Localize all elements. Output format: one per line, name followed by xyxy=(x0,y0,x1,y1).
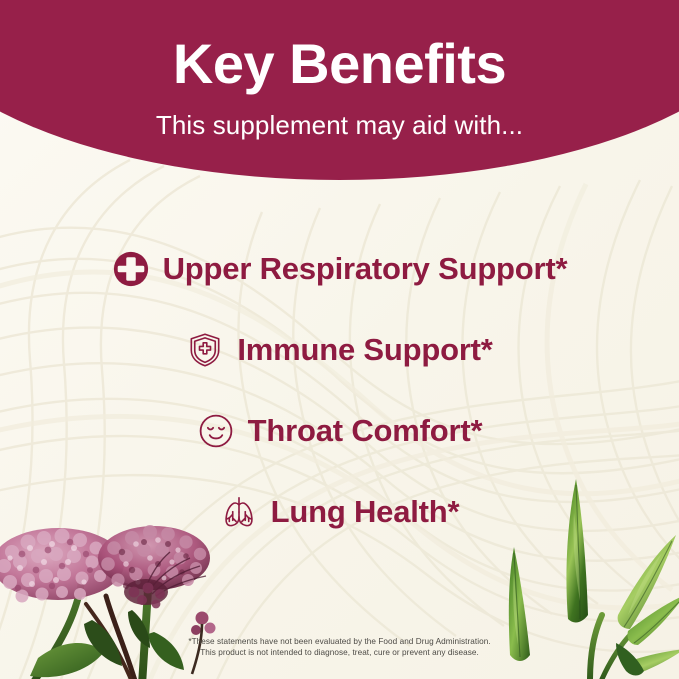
benefit-label: Lung Health* xyxy=(271,494,460,530)
shield-cross-icon xyxy=(186,331,224,369)
benefit-item-immune-support: Immune Support* xyxy=(0,309,679,390)
benefit-item-upper-respiratory-support: Upper Respiratory Support* xyxy=(0,228,679,309)
smiley-face-icon xyxy=(197,412,235,450)
disclaimer-line-1: *These statements have not been evaluate… xyxy=(0,636,679,648)
benefit-item-throat-comfort: Throat Comfort* xyxy=(0,390,679,471)
medical-cross-circle-icon xyxy=(112,250,150,288)
benefit-label: Throat Comfort* xyxy=(248,413,483,449)
benefit-label: Immune Support* xyxy=(237,332,492,368)
benefit-label: Upper Respiratory Support* xyxy=(163,251,568,287)
product-benefits-infographic: Key Benefits This supplement may aid wit… xyxy=(0,0,679,679)
disclaimer-text: *These statements have not been evaluate… xyxy=(0,636,679,659)
disclaimer-line-2: This product is not intended to diagnose… xyxy=(0,647,679,659)
